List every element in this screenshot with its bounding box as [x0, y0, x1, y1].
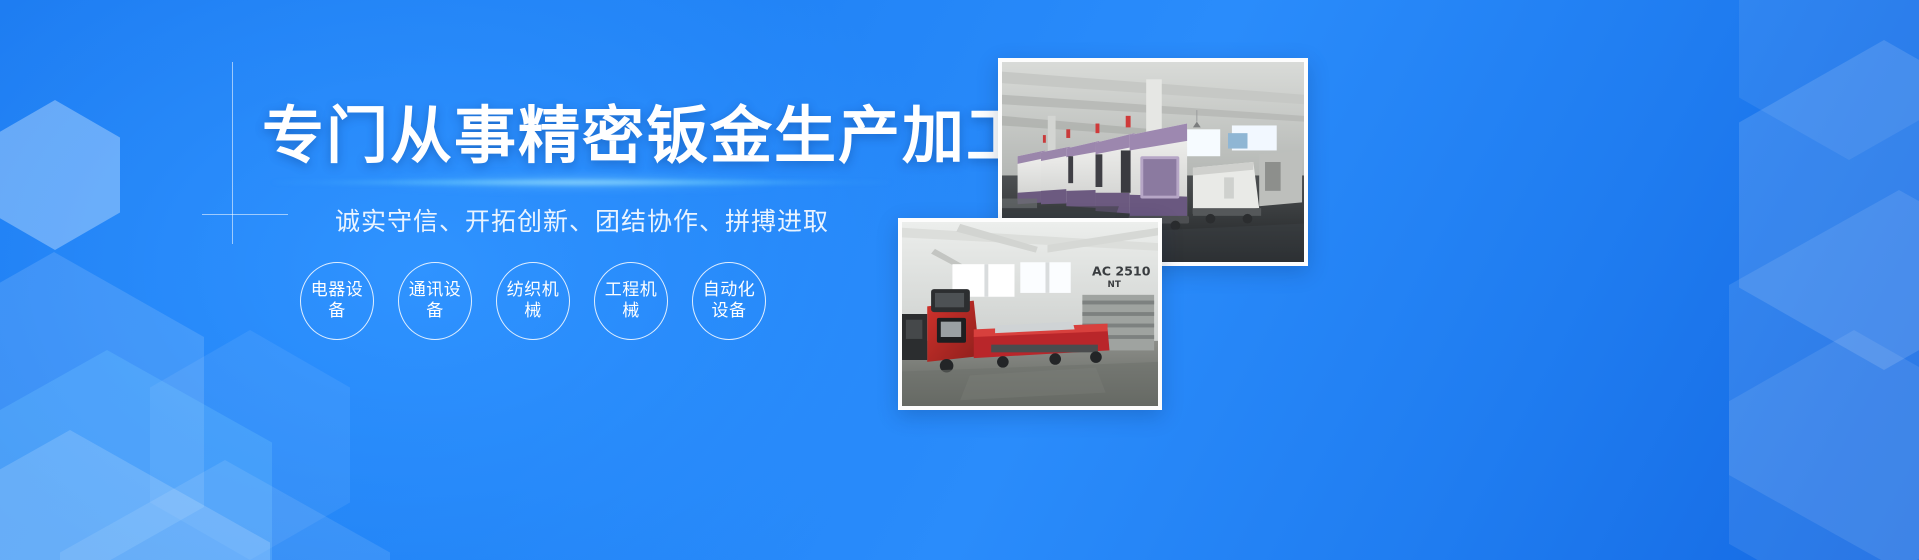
hexagon-shape-icon — [0, 430, 270, 560]
photo-factory-punch-machine-image: AC 2510 NT — [902, 222, 1158, 406]
category-badge-label: 通讯设备 — [405, 280, 465, 321]
hexagon-shape-icon — [0, 350, 272, 560]
category-badge-communication-equipment[interactable]: 通讯设备 — [398, 262, 472, 340]
category-badge-automation-equipment[interactable]: 自动化设备 — [692, 262, 766, 340]
svg-text:NT: NT — [1108, 280, 1121, 290]
category-badge-row: 电器设备 通讯设备 纺织机械 工程机械 自动化设备 — [300, 262, 766, 340]
hexagon-shape-icon — [0, 252, 204, 560]
banner-headline: 专门从事精密钣金生产加工 — [262, 104, 902, 170]
hexagon-shape-icon — [1729, 190, 1919, 560]
hexagon-shape-icon — [0, 100, 120, 250]
category-badge-textile-machinery[interactable]: 纺织机械 — [496, 262, 570, 340]
hexagon-shape-icon — [1739, 0, 1919, 160]
hexagon-shape-icon — [60, 460, 390, 560]
hexagon-shape-icon — [150, 330, 350, 560]
hexagon-shape-icon — [1739, 40, 1919, 370]
category-badge-engineering-machinery[interactable]: 工程机械 — [594, 262, 668, 340]
category-badge-label: 纺织机械 — [503, 280, 563, 321]
category-badge-label: 工程机械 — [601, 280, 661, 321]
banner-copy: 专门从事精密钣金生产加工 诚实守信、开拓创新、团结协作、拼搏进取 — [262, 104, 902, 238]
crosshair-vertical-line — [232, 62, 233, 244]
banner-subheadline: 诚实守信、开拓创新、团结协作、拼搏进取 — [262, 206, 902, 239]
hero-banner: 专门从事精密钣金生产加工 诚实守信、开拓创新、团结协作、拼搏进取 电器设备 通讯… — [0, 0, 1919, 560]
hexagon-shape-icon — [1729, 330, 1919, 560]
category-badge-label: 自动化设备 — [699, 280, 759, 321]
photo-factory-punch-machine[interactable]: AC 2510 NT — [898, 218, 1162, 410]
svg-text:AC 2510: AC 2510 — [1092, 264, 1151, 279]
headline-glow-streak — [272, 176, 892, 190]
category-badge-electrical-equipment[interactable]: 电器设备 — [300, 262, 374, 340]
category-badge-label: 电器设备 — [307, 280, 367, 321]
